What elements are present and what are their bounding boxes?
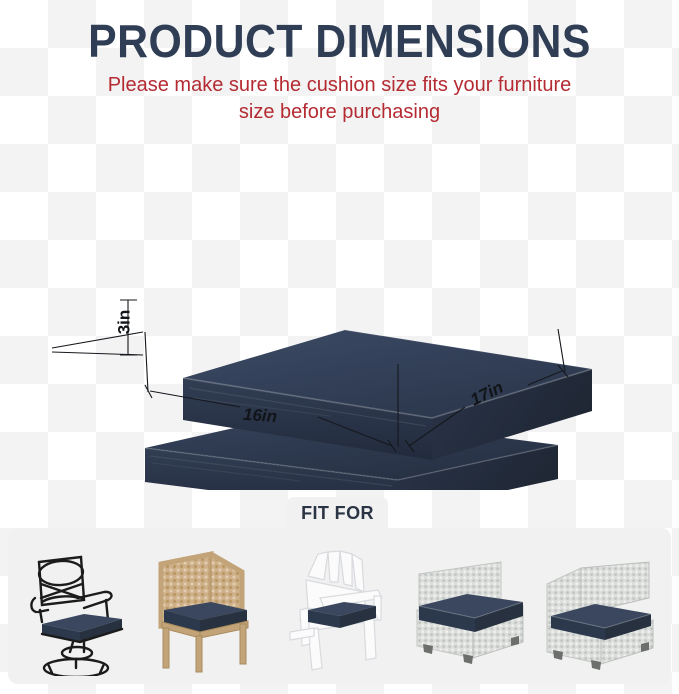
armless-sectional-icon xyxy=(409,540,531,676)
swivel-dining-chair-icon xyxy=(18,540,140,676)
fit-item-armless-sectional xyxy=(408,536,532,676)
fit-item-corner-sectional xyxy=(538,536,662,676)
product-dimensions-infographic: PRODUCT DIMENSIONS Please make sure the … xyxy=(0,0,679,694)
adirondack-chair-icon xyxy=(278,540,400,676)
fit-item-adirondack-chair xyxy=(277,536,401,676)
cushion-stack-svg xyxy=(0,150,679,490)
header: PRODUCT DIMENSIONS Please make sure the … xyxy=(0,16,679,126)
page-title: PRODUCT DIMENSIONS xyxy=(24,16,655,66)
fit-for-tab: FIT FOR xyxy=(287,497,388,531)
fit-for-items-row xyxy=(8,528,671,684)
wicker-dining-chair-icon xyxy=(148,540,270,676)
fit-for-panel xyxy=(8,528,671,684)
fit-item-wicker-dining-chair xyxy=(147,536,271,676)
cushion-stack-illustration xyxy=(0,150,679,490)
fit-for-label: FIT FOR xyxy=(287,497,388,529)
swivel-chair-cushion xyxy=(42,614,122,642)
fit-item-swivel-dining-chair xyxy=(17,536,141,676)
corner-sectional-icon xyxy=(539,540,661,676)
page-subtitle: Please make sure the cushion size fits y… xyxy=(105,72,575,126)
